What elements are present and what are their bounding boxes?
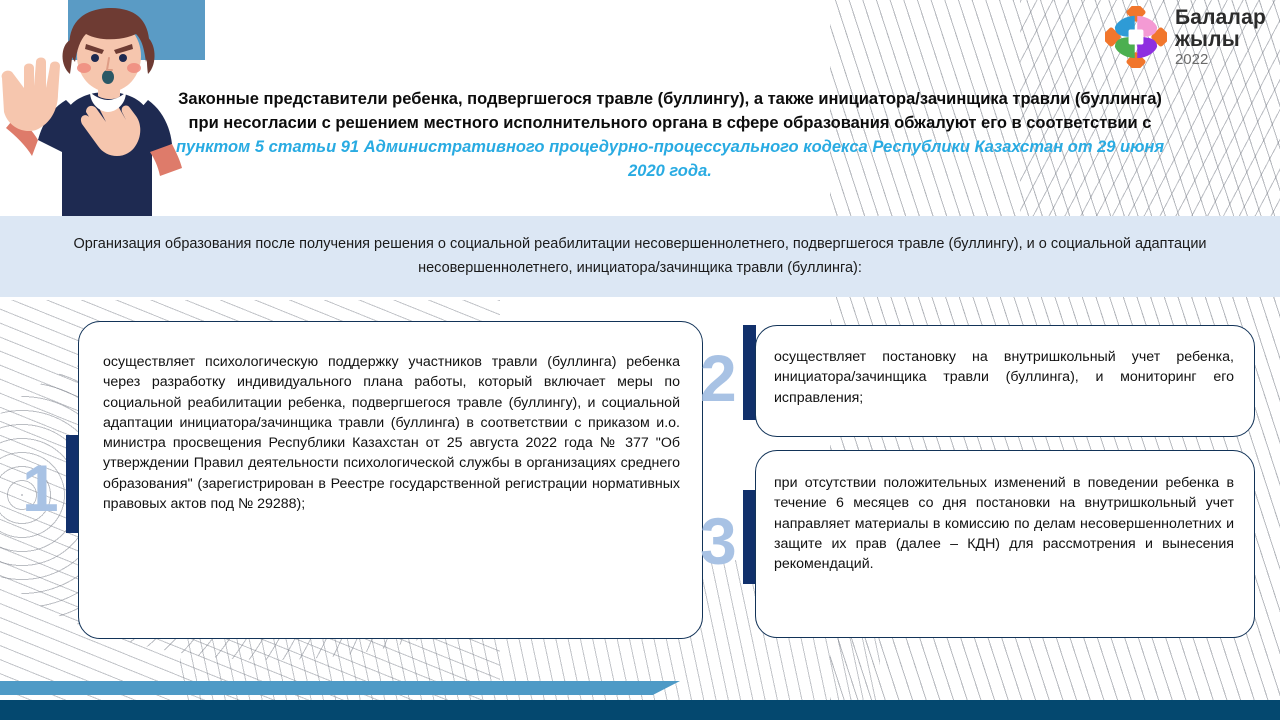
flower-star-logo-icon	[1105, 6, 1167, 68]
card-number-3: 3	[700, 508, 737, 574]
content-card-2: осуществляет постановку на внутришкольны…	[755, 325, 1255, 437]
content-card-1: осуществляет психологическую поддержку у…	[78, 321, 703, 639]
footer-navy-bar	[0, 700, 1280, 720]
title-plain-text: Законные представители ребенка, подвергш…	[178, 90, 1162, 132]
title-accent-text: пунктом 5 статьи 91 Административного пр…	[176, 138, 1164, 180]
subtitle-banner: Организация образования после получения …	[0, 216, 1280, 297]
card-1-text: осуществляет психологическую поддержку у…	[103, 352, 680, 514]
logo: Балалар жылы 2022	[1105, 6, 1266, 68]
slide-root: Балалар жылы 2022 Законные представители…	[0, 0, 1280, 720]
footer-light-blue-bar	[0, 681, 680, 695]
card-2-text: осуществляет постановку на внутришкольны…	[774, 347, 1234, 408]
card-number-2: 2	[700, 345, 737, 411]
logo-title-line2: жылы	[1175, 29, 1266, 50]
logo-year: 2022	[1175, 52, 1266, 67]
logo-title-line1: Балалар	[1175, 7, 1266, 28]
content-card-3: при отсутствии положительных изменений в…	[755, 450, 1255, 638]
subtitle-banner-text: Организация образования после получения …	[65, 233, 1215, 280]
slide-title: Законные представители ребенка, подвергш…	[170, 88, 1170, 184]
card-3-text: при отсутствии положительных изменений в…	[774, 473, 1234, 574]
card-number-1: 1	[22, 455, 59, 521]
